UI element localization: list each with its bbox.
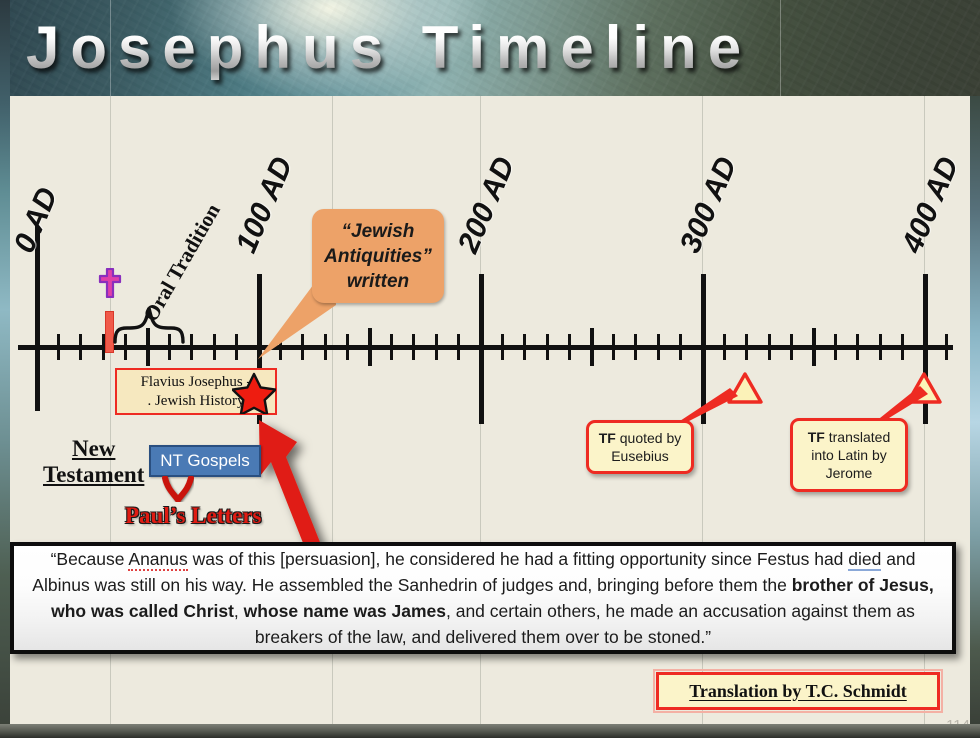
- left-edge-strip: [0, 0, 10, 738]
- jewish-antiquities-callout: “Jewish Antiquities” written: [312, 209, 444, 303]
- axis-tick: [634, 334, 637, 360]
- tf-eusebius-callout: TF quoted by Eusebius: [586, 420, 694, 474]
- quote-p1: “Because: [51, 549, 129, 569]
- jaw-line1: “Jewish: [342, 221, 415, 242]
- axis-tick: [834, 334, 837, 360]
- axis-tick: [856, 334, 859, 360]
- axis-tick: [657, 334, 660, 360]
- axis-tick: [523, 334, 526, 360]
- era-label: 100 AD: [230, 152, 301, 258]
- page-title: Josephus Timeline: [26, 16, 752, 80]
- era-label: 0 AD: [10, 183, 65, 258]
- axis-tick: [812, 328, 816, 366]
- jaw-line2: Antiquities”: [324, 246, 432, 267]
- christian-cross-icon: [98, 268, 122, 298]
- axis-tick: [501, 334, 504, 360]
- tf-jerome-callout: TF translated into Latin by Jerome: [790, 418, 908, 492]
- right-edge-strip: [970, 96, 980, 724]
- axis-tick: [768, 334, 771, 360]
- slide-root: Josephus Timeline 0 AD100 AD200 AD300 AD…: [0, 0, 980, 738]
- pauls-letters-label: Paul’s Letters: [125, 503, 261, 529]
- axis-tick: [879, 334, 882, 360]
- axis-tick: [745, 334, 748, 360]
- axis-tick: [457, 334, 460, 360]
- quote-p4: ,: [234, 601, 244, 621]
- axis-tick: [213, 334, 216, 360]
- axis-tick: [57, 334, 60, 360]
- axis-tick: [435, 334, 438, 360]
- nt-line2: Testament: [43, 462, 144, 488]
- axis-tick: [346, 334, 349, 360]
- axis-tick: [568, 334, 571, 360]
- quote-b2: whose name was James: [244, 601, 446, 621]
- axis-tick: [412, 334, 415, 360]
- axis-tick: [79, 334, 82, 360]
- quotation-text: “Because Ananus was of this [persuasion]…: [28, 546, 938, 650]
- quote-died: died: [848, 549, 881, 571]
- axis-tick: [901, 334, 904, 360]
- quotation-box: “Because Ananus was of this [persuasion]…: [10, 542, 956, 654]
- tf-eusebius-line2: Eusebius: [611, 448, 669, 464]
- tf-jerome-line3: Jerome: [826, 465, 873, 481]
- quote-ananus: Ananus: [128, 549, 187, 571]
- translation-credit-box: Translation by T.C. Schmidt: [656, 672, 940, 710]
- bottom-edge-strip: [0, 724, 980, 738]
- axis-tick: [590, 328, 594, 366]
- axis-tick: [679, 334, 682, 360]
- jaw-line3: written: [347, 271, 409, 292]
- tf-jerome-line2: into Latin by: [811, 447, 887, 463]
- axis-tick: [723, 334, 726, 360]
- axis-tick: [790, 334, 793, 360]
- axis-tick: [479, 274, 484, 424]
- tf-eusebius-rest: quoted by: [616, 430, 681, 446]
- axis-tick: [390, 334, 393, 360]
- axis-tick: [368, 328, 372, 366]
- era-label: 400 AD: [896, 152, 967, 258]
- red-star-icon: [232, 372, 276, 414]
- new-testament-label: New Testament: [43, 436, 144, 488]
- quote-p2: was of this [persuasion], he considered …: [188, 549, 849, 569]
- tf-jerome-bold: TF: [808, 429, 825, 445]
- axis-tick: [546, 334, 549, 360]
- era-label: 300 AD: [674, 152, 745, 258]
- tf-eusebius-bold: TF: [599, 430, 616, 446]
- flavius-line2: . Jewish History: [147, 392, 244, 411]
- tf-jerome-rest: translated: [825, 429, 890, 445]
- pauls-letters-brace: [162, 476, 194, 502]
- nt-line1: New: [43, 436, 144, 462]
- banner-gridline-right: [780, 0, 781, 96]
- nt-gospels-badge[interactable]: NT Gospels: [149, 445, 261, 477]
- axis-tick: [235, 334, 238, 360]
- era-label: 200 AD: [452, 152, 523, 258]
- axis-tick: [612, 334, 615, 360]
- axis-tick: [945, 334, 948, 360]
- translation-credit-label: Translation by T.C. Schmidt: [689, 681, 907, 702]
- axis-tick: [190, 334, 193, 360]
